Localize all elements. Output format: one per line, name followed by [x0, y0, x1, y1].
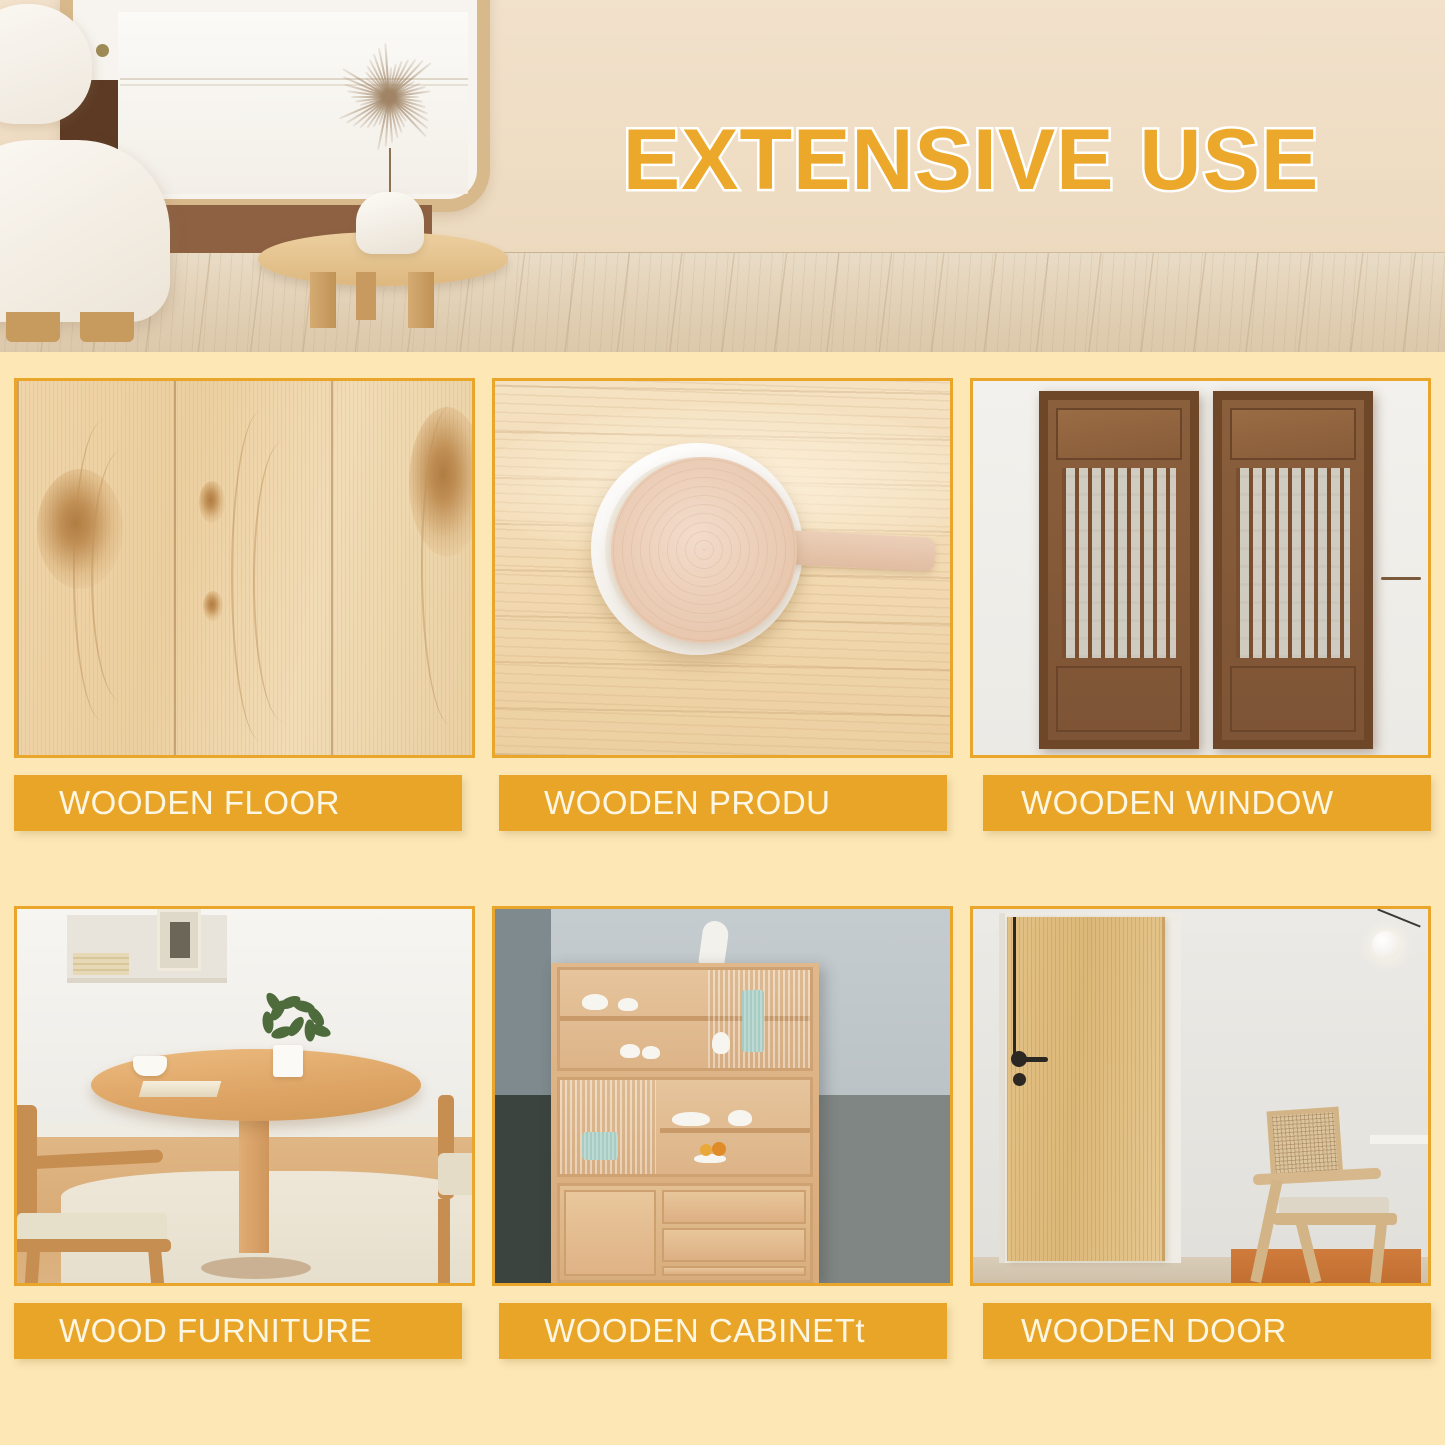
- cabinet-drawer[interactable]: [662, 1266, 806, 1276]
- left-wall-lower: [495, 1095, 551, 1283]
- cabinet-upper-section: [557, 967, 813, 1071]
- window-top-panel: [1056, 408, 1182, 460]
- hero-banner: EXTENSIVE USE: [0, 0, 1445, 352]
- window-bottom-panel: [1056, 666, 1182, 732]
- wood-knot: [37, 469, 123, 589]
- cabinet-base-unit: [557, 1183, 813, 1283]
- door-lock-icon[interactable]: [1013, 1073, 1026, 1086]
- wooden-door-leaf[interactable]: [1007, 917, 1165, 1261]
- tile-label-wooden-window: WOODEN WINDOW: [983, 775, 1431, 831]
- grid-row: WOOD FURNITURE: [14, 906, 1431, 1359]
- globe-lamp-icon: [1372, 931, 1400, 959]
- cabinet-door[interactable]: [564, 1190, 656, 1276]
- tile-label-wooden-cabinet: WOODEN CABINETt: [499, 1303, 947, 1359]
- wood-knot: [203, 591, 223, 621]
- grid-cell-wooden-cabinet[interactable]: WOODEN CABINETt: [492, 906, 953, 1359]
- wood-knot: [199, 481, 225, 523]
- cup-and-saucer: [133, 1056, 167, 1076]
- tile-label-wooden-door: WOODEN DOOR: [983, 1303, 1431, 1359]
- white-bowl: [582, 994, 608, 1010]
- wooden-spoon-photo: [492, 378, 953, 758]
- white-bowl: [618, 998, 638, 1011]
- fruit-orange: [712, 1142, 726, 1156]
- wood-grain: [253, 441, 313, 721]
- door-handle-icon[interactable]: [1014, 1057, 1048, 1062]
- dried-twig-icon: [1381, 577, 1421, 580]
- grid-cell-wooden-door[interactable]: WOODEN DOOR: [970, 906, 1431, 1359]
- mint-pot: [582, 1132, 618, 1160]
- window-lattice-grid: [1062, 468, 1176, 658]
- lattice-window-panel: [1039, 391, 1199, 749]
- mint-vase: [742, 990, 764, 1052]
- door-trim-strip: [1013, 917, 1016, 1057]
- wood-knot: [409, 407, 475, 557]
- window-top-panel: [1230, 408, 1356, 460]
- plant-pot: [273, 1045, 303, 1077]
- coffee-table-leg: [310, 272, 336, 328]
- fruit-orange: [700, 1144, 712, 1156]
- cabinet-shelf: [660, 1128, 810, 1133]
- armchair-foot: [6, 312, 60, 342]
- stacked-books: [73, 953, 129, 975]
- sideboard-knob-icon: [96, 44, 109, 57]
- spoon-head: [611, 457, 797, 643]
- interior-door-photo: [970, 906, 1431, 1286]
- dining-table-photo: [14, 906, 475, 1286]
- cabinet-drawer[interactable]: [662, 1228, 806, 1262]
- display-cabinet: [551, 963, 819, 1283]
- grid-cell-wooden-product[interactable]: WOODEN PRODU: [492, 378, 953, 831]
- dining-chair-right: [416, 1095, 475, 1285]
- white-cup: [620, 1044, 640, 1058]
- book-on-table: [139, 1081, 222, 1097]
- striped-mug: [712, 1032, 730, 1054]
- feature-grid: WOODEN FLOOR WOODEN PRODU: [0, 352, 1445, 1445]
- potted-plant-icon: [255, 995, 325, 1049]
- white-cup: [642, 1046, 660, 1059]
- cabinet-drawer[interactable]: [662, 1190, 806, 1224]
- dining-chair-left: [14, 1105, 183, 1286]
- dried-pampas-icon: [336, 40, 444, 152]
- grid-row: WOODEN FLOOR WOODEN PRODU: [14, 378, 1431, 831]
- display-cabinet-photo: [492, 906, 953, 1286]
- tile-label-wood-furniture: WOOD FURNITURE: [14, 1303, 462, 1359]
- tile-label-wooden-floor: WOODEN FLOOR: [14, 775, 462, 831]
- armchair-foot: [80, 312, 134, 342]
- pine-plank-floor-photo: [14, 378, 475, 758]
- ceramic-vase: [356, 192, 424, 254]
- rattan-chair: [1247, 1109, 1417, 1284]
- cabinet-middle-section: [557, 1077, 813, 1177]
- table-pedestal: [239, 1107, 269, 1253]
- page-title: EXTENSIVE USE: [506, 112, 1436, 208]
- grid-cell-wooden-window[interactable]: WOODEN WINDOW: [970, 378, 1431, 831]
- grid-cell-wood-furniture[interactable]: WOOD FURNITURE: [14, 906, 475, 1359]
- coffee-table-leg: [356, 272, 376, 320]
- lattice-window-photo: [970, 378, 1431, 758]
- lattice-window-panel: [1213, 391, 1373, 749]
- window-bottom-panel: [1230, 666, 1356, 732]
- left-wall-upper: [495, 909, 551, 1095]
- table-base: [201, 1257, 311, 1279]
- window-lattice-grid: [1236, 468, 1350, 658]
- tile-label-wooden-product: WOODEN PRODU: [499, 775, 947, 831]
- coffee-table-leg: [408, 272, 434, 328]
- grid-cell-wooden-floor[interactable]: WOODEN FLOOR: [14, 378, 475, 831]
- white-cup: [728, 1110, 752, 1126]
- white-plate: [672, 1112, 710, 1126]
- framed-art: [157, 909, 201, 971]
- hero-wood-floor: [0, 253, 1445, 352]
- infographic-page: EXTENSIVE USE WOODEN FLOOR: [0, 0, 1445, 1445]
